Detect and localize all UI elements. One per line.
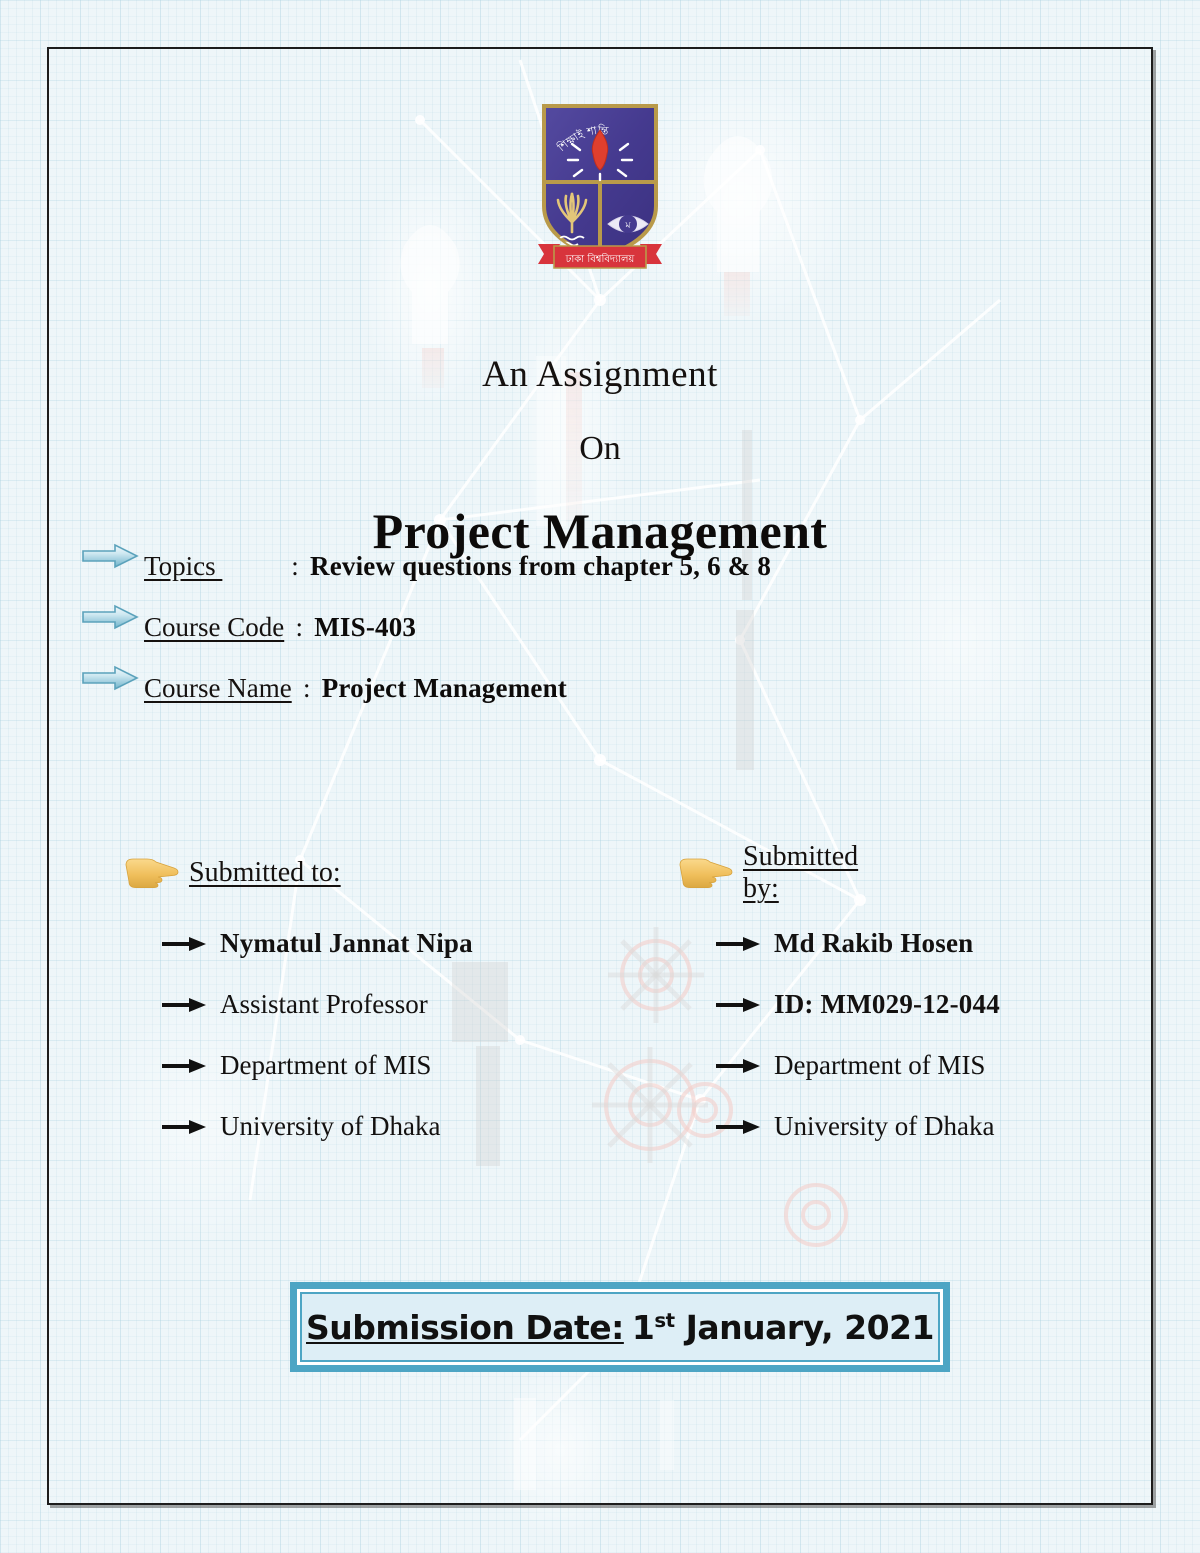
arrow-right-icon <box>715 995 761 1015</box>
arrow-right-icon <box>715 934 761 954</box>
arrow-right-3d-icon <box>81 543 139 569</box>
pointing-hand-right-icon <box>677 851 733 891</box>
svg-text:ঢাকা বিশ্ববিদ্যালয়: ঢাকা বিশ্ববিদ্যালয় <box>565 253 636 265</box>
info-colon: : <box>284 612 314 643</box>
submitted-by-label: Submitted by: <box>743 841 858 905</box>
university-crest: শিক্ষাই শান্তি <box>530 94 670 274</box>
on-heading: On <box>47 430 1153 468</box>
submitted-by-item: University of Dhaka <box>677 1096 715 1157</box>
submission-date-value: 1st January, 2021 <box>632 1308 934 1347</box>
submission-date-label: Submission Date: <box>306 1308 624 1347</box>
submitted-by-item-text: Md Rakib Hosen <box>774 928 973 959</box>
submitted-columns: Submitted to: Nymatul Jannat Nipa Assist… <box>47 847 1153 1157</box>
info-value: Review questions from chapter 5, 6 & 8 <box>310 551 771 582</box>
info-label: Topics <box>144 551 280 582</box>
submitted-by-item-text: ID: MM029-12-044 <box>774 989 1000 1020</box>
info-colon: : <box>280 551 310 582</box>
arrow-right-3d-icon <box>81 665 139 691</box>
submission-date-box-fill: Submission Date:1st January, 2021 <box>302 1294 938 1360</box>
crest-ribbon: ঢাকা বিশ্ববিদ্যালয় <box>538 244 662 268</box>
submitted-by-item: Department of MIS <box>677 1035 715 1096</box>
svg-text:ম: ম <box>625 221 632 231</box>
info-colon: : <box>292 673 322 704</box>
info-row-topics: Topics : Review questions from chapter 5… <box>81 549 1121 610</box>
arrow-right-icon <box>715 1117 761 1137</box>
info-label: Course Name <box>144 673 292 704</box>
submitted-by-column: Submitted by: Md Rakib Hosen ID: MM029-1… <box>47 847 677 1157</box>
arrow-right-3d-icon <box>81 604 139 630</box>
submission-date-text: Submission Date:1st January, 2021 <box>306 1308 934 1347</box>
info-label: Course Code <box>144 612 284 643</box>
info-value: Project Management <box>322 673 567 704</box>
submission-date-box-inner-border: Submission Date:1st January, 2021 <box>297 1289 943 1365</box>
submitted-by-item: ID: MM029-12-044 <box>677 974 715 1035</box>
submission-date-day: 1 <box>632 1308 654 1347</box>
document-content: শিক্ষাই শান্তি <box>47 47 1153 1505</box>
arrow-right-icon <box>715 1056 761 1076</box>
assignment-heading: An Assignment <box>47 353 1153 396</box>
submission-date-box: Submission Date:1st January, 2021 <box>290 1282 950 1372</box>
submission-date-month-year: January, 2021 <box>686 1308 934 1347</box>
submission-date-day-suffix: st <box>654 1309 674 1332</box>
assignment-info-block: Topics : Review questions from chapter 5… <box>81 549 1121 732</box>
submitted-by-item-text: University of Dhaka <box>774 1111 994 1142</box>
submitted-by-item: Md Rakib Hosen <box>677 913 715 974</box>
info-value: MIS-403 <box>314 612 416 643</box>
info-row-course-name: Course Name : Project Management <box>81 671 1121 732</box>
submitted-by-item-text: Department of MIS <box>774 1050 985 1081</box>
info-row-course-code: Course Code : MIS-403 <box>81 610 1121 671</box>
